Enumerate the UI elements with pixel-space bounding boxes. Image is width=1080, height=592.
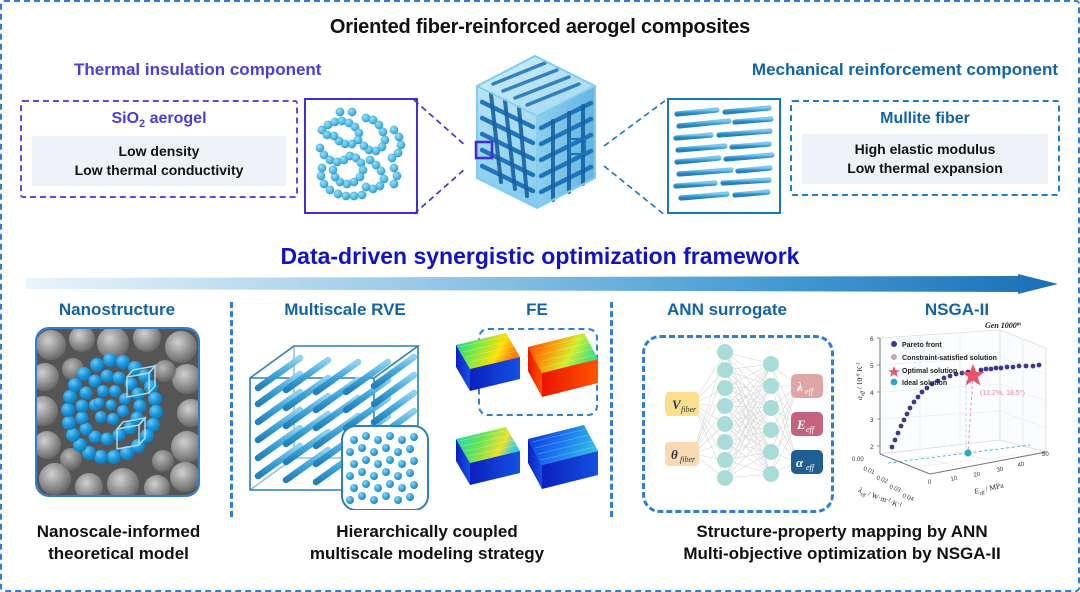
mullite-property-1: High elastic modulus: [810, 140, 1040, 159]
svg-text:0.01: 0.01: [862, 466, 876, 476]
sio2-property-list: Low density Low thermal conductivity: [32, 136, 286, 186]
stage-label-nsga-ii: NSGA-II: [867, 300, 1047, 320]
legend-marker-pareto-front: [891, 341, 897, 347]
svg-text:E: E: [796, 417, 806, 432]
section-divider-2: [610, 302, 613, 517]
caption-ann-nsga: Structure-property mapping by ANN Multi-…: [622, 521, 1062, 566]
graphical-abstract: Oriented fiber-reinforced aerogel compos…: [0, 0, 1080, 592]
optimal-solution-annotation: (12.2%, 18.5°): [980, 389, 1025, 397]
framework-title: Data-driven synergistic optimization fra…: [2, 243, 1078, 270]
caption-left-line2: theoretical model: [16, 543, 221, 565]
caption-mid-line2: multiscale modeling strategy: [242, 543, 612, 565]
svg-text:4: 4: [870, 390, 874, 397]
svg-text:α: α: [796, 455, 804, 470]
sio2-property-2: Low thermal conductivity: [40, 161, 278, 180]
ann-hidden-layer-1: [717, 344, 733, 486]
plot-z-axis-label: αeff / 10-6 K-1: [855, 362, 866, 400]
svg-text:10: 10: [950, 475, 958, 482]
workflow-arrow: [26, 274, 1058, 296]
caption-right-line1: Structure-property mapping by ANN: [622, 521, 1062, 543]
caption-multiscale-strategy: Hierarchically coupled multiscale modeli…: [242, 521, 612, 566]
fe-block-3: [456, 427, 520, 485]
aligned-fiber-image: [667, 98, 781, 214]
aerogel-network-image: [304, 98, 418, 214]
caption-left-line1: Nanoscale-informed: [16, 521, 221, 543]
svg-text:30: 30: [996, 466, 1004, 473]
ann-output-alpha-eff: α eff: [791, 450, 823, 474]
svg-text:0.00: 0.00: [852, 457, 864, 463]
svg-text:fiber: fiber: [681, 405, 697, 414]
legend-marker-constraint-satisfied: [891, 354, 897, 360]
svg-text:0.03: 0.03: [888, 484, 902, 494]
legend-label-ideal-solution: Ideal solution: [902, 380, 947, 387]
mechanical-component-label: Mechanical reinforcement component: [752, 60, 1058, 80]
legend-label-optimal-solution: Optimal solution: [902, 368, 957, 375]
svg-text:0: 0: [928, 480, 932, 486]
fe-block-2: [528, 333, 598, 397]
stage-label-nanostructure: Nanostructure: [22, 300, 212, 320]
ideal-solution-marker: [964, 449, 971, 456]
sio2-aerogel-property-box: SiO2 aerogel Low density Low thermal con…: [20, 100, 298, 198]
fe-simulation-svg: [454, 327, 602, 512]
legend-marker-ideal-solution: [891, 379, 898, 386]
svg-text:40: 40: [1017, 461, 1025, 468]
stage-label-fe: FE: [472, 300, 602, 320]
plot-z-ticks: 6 5 4 3 2: [870, 336, 874, 451]
nsga-ii-plot-svg: 6 5 4 3 2 0.00 0.01 0.02 0.03 0.04 λeff …: [850, 322, 1062, 512]
sio2-title-tail: aerogel: [145, 110, 206, 127]
ann-surrogate-diagram: V fiber θ fiber λ eff E eff α: [642, 335, 834, 513]
right-connector-lines: [600, 98, 670, 220]
plot-generation-annotation: Gen 1000th: [985, 322, 1021, 330]
legend-label-pareto-front: Pareto front: [902, 342, 942, 349]
mullite-fiber-property-box: Mullite fiber High elastic modulus Low t…: [790, 100, 1060, 196]
fe-block-4: [528, 425, 598, 489]
svg-text:fiber: fiber: [680, 455, 696, 464]
thermal-component-label: Thermal insulation component: [74, 60, 321, 80]
aligned-fiber-svg: [669, 100, 779, 212]
ann-output-lambda-eff: λ eff: [791, 374, 823, 398]
stage-label-multiscale-rve: Multiscale RVE: [250, 300, 440, 320]
section-divider-1: [230, 302, 233, 517]
ann-input-theta-fiber: θ fiber: [665, 442, 699, 466]
plot-y-axis-label: Eeff / MPa: [972, 480, 1005, 498]
nsga-ii-pareto-plot: 6 5 4 3 2 0.00 0.01 0.02 0.03 0.04 λeff …: [850, 322, 1062, 512]
svg-text:6: 6: [870, 336, 874, 343]
ann-output-e-eff: E eff: [791, 412, 823, 436]
composite-cube-illustration: [457, 50, 607, 218]
ann-input-v-fiber: V fiber: [665, 392, 699, 416]
composite-cube-svg: [457, 50, 607, 218]
svg-text:2: 2: [870, 444, 874, 451]
nanostructure-image: [35, 327, 200, 497]
svg-text:λ: λ: [796, 379, 803, 394]
svg-text:50: 50: [1042, 452, 1049, 458]
multiscale-rve-svg: [242, 330, 457, 510]
svg-text:0.04: 0.04: [901, 493, 915, 503]
mullite-fiber-title: Mullite fiber: [802, 110, 1048, 128]
caption-right-line2: Multi-objective optimization by NSGA-II: [622, 543, 1062, 565]
fe-simulation-image: [454, 327, 602, 512]
svg-text:θ: θ: [671, 447, 678, 462]
svg-text:3: 3: [870, 417, 874, 424]
svg-text:5: 5: [870, 363, 874, 370]
stage-label-ann-surrogate: ANN surrogate: [617, 300, 837, 320]
fe-block-1: [456, 333, 520, 391]
workflow-arrow-svg: [26, 274, 1058, 296]
ann-surrogate-svg: V fiber θ fiber λ eff E eff α: [645, 338, 831, 510]
mullite-property-2: Low thermal expansion: [810, 159, 1040, 178]
caption-mid-line1: Hierarchically coupled: [242, 521, 612, 543]
multiscale-rve-illustration: [242, 330, 457, 510]
aerogel-network-svg: [306, 100, 416, 212]
legend-label-constraint-satisfied: Constraint-satisfied solution: [902, 355, 997, 362]
mullite-property-list: High elastic modulus Low thermal expansi…: [802, 134, 1048, 184]
svg-text:0.02: 0.02: [875, 475, 889, 485]
nanostructure-svg: [37, 329, 198, 495]
sio2-aerogel-title: SiO2 aerogel: [32, 110, 286, 130]
svg-text:20: 20: [973, 471, 981, 478]
sio2-property-1: Low density: [40, 142, 278, 161]
caption-nanoscale-model: Nanoscale-informed theoretical model: [16, 521, 221, 566]
sio2-title-main: SiO: [111, 110, 139, 127]
page-title: Oriented fiber-reinforced aerogel compos…: [2, 16, 1078, 39]
